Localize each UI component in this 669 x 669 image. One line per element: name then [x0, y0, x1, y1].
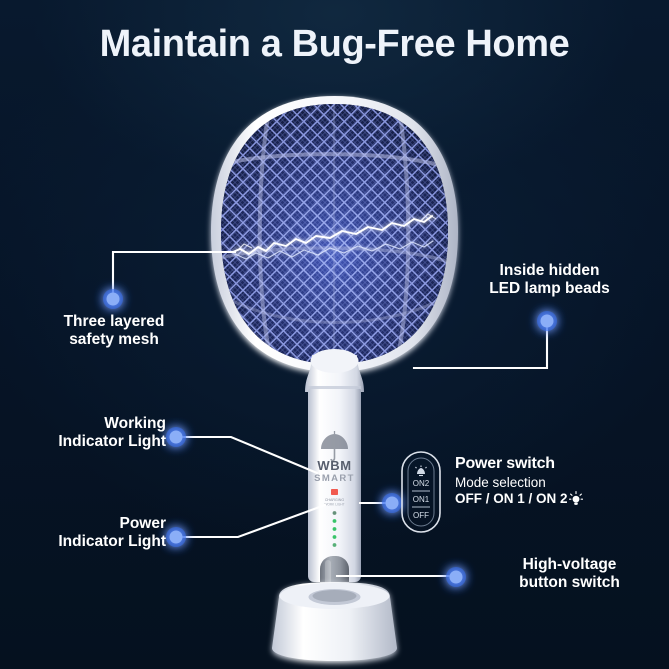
callout-inside-hidden-led-lamp-beads: Inside hidden LED lamp beads — [430, 262, 669, 299]
callout-line-1: Working — [0, 415, 166, 433]
callout-line-2: Indicator Light — [0, 533, 166, 551]
lamp-icon — [569, 491, 583, 505]
switch-position-on2: ON2 — [413, 479, 430, 488]
callout-power-switch: Power switch Mode selection OFF / ON 1 /… — [455, 455, 583, 506]
callout-three-layered-safety-mesh: Three layered safety mesh — [0, 313, 228, 350]
callout-line-2: safety mesh — [0, 331, 228, 349]
callout-line-1: Power — [0, 515, 166, 533]
switch-diagram: ON2 ON1 OFF — [402, 452, 440, 532]
infographic-canvas: Maintain a Bug-Free Home — [0, 0, 669, 669]
callout-power-indicator-light: Power Indicator Light — [0, 515, 166, 552]
callout-high-voltage-button-switch: High-voltage button switch — [470, 556, 669, 593]
callout-line-2: LED lamp beads — [430, 280, 669, 298]
lamp-icon — [416, 466, 427, 476]
connector-led — [414, 321, 547, 368]
charging-base — [272, 582, 397, 661]
switch-position-off: OFF — [413, 511, 429, 520]
power-switch-modes-text: OFF / ON 1 / ON 2 — [455, 491, 568, 506]
brand-name-primary: WBM — [317, 458, 351, 473]
callout-line-2: button switch — [470, 574, 669, 592]
power-switch-subtitle: Mode selection — [455, 475, 583, 490]
connector-power-indicator — [176, 505, 325, 537]
switch-position-on1: ON1 — [413, 495, 430, 504]
power-switch-modes: OFF / ON 1 / ON 2 — [455, 491, 583, 506]
connector-working — [176, 437, 317, 473]
callout-line-1: Inside hidden — [430, 262, 669, 280]
led-caption: CHARGING — [325, 498, 345, 502]
led-caption-sub: WORK LIGHT — [324, 503, 344, 507]
racket-neck — [305, 349, 364, 392]
power-switch-title: Power switch — [455, 455, 583, 473]
callout-line-2: Indicator Light — [0, 433, 166, 451]
brand-name-secondary: SMART — [314, 473, 355, 484]
callout-line-1: Three layered — [0, 313, 228, 331]
working-indicator-led — [331, 489, 338, 495]
racket-head — [211, 96, 458, 381]
callout-line-1: High-voltage — [470, 556, 669, 574]
callout-working-indicator-light: Working Indicator Light — [0, 415, 166, 452]
